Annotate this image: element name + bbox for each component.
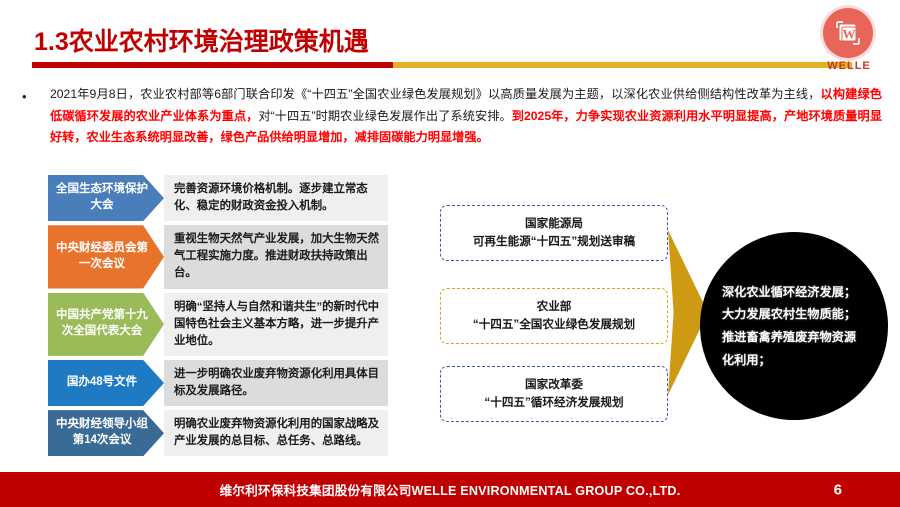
slide-canvas: 1.3农业农村环境治理政策机遇 W WELLE • 2021年9月8日，农业农村… [0, 0, 900, 507]
outcome-circle: 深化农业循环经济发展； 大力发展农村生物质能； 推进畜禽养殖废弃物资源 化利用； [700, 232, 888, 420]
policy-doc-issuer: 国家能源局 [447, 215, 661, 233]
logo-wordmark: WELLE [816, 60, 882, 72]
policy-doc-box: 农业部 “十四五”全国农业绿色发展规划 [440, 288, 668, 344]
flow-tag-chevron: 中国共产党第十九次全国代表大会 [48, 293, 164, 356]
policy-doc-title: 可再生能源“十四五”规划送审稿 [447, 233, 661, 251]
policy-doc-issuer: 国家改革委 [447, 376, 661, 394]
svg-text:W: W [843, 27, 856, 42]
flow-tag-chevron: 中央财经委员会第一次会议 [48, 225, 164, 288]
flow-tag-chevron: 国办48号文件 [48, 360, 164, 406]
flow-row: 中国共产党第十九次全国代表大会 明确“坚持人与自然和谐共生”的新时代中国特色社会… [48, 293, 388, 356]
policy-flow-list: 全国生态环境保护大会 完善资源环境价格机制。逐步建立常态化、稳定的财政资金投入机… [48, 175, 388, 460]
flow-description: 进一步明确农业废弃物资源化利用具体目标及发展路径。 [164, 360, 388, 406]
footer-bar: 维尔利环保科技集团股份有限公司WELLE ENVIRONMENTAL GROUP… [0, 472, 900, 507]
flow-description: 明确农业废弃物资源化利用的国家战略及产业发展的总目标、总任务、总路线。 [164, 410, 388, 456]
policy-doc-box: 国家改革委 “十四五”循环经济发展规划 [440, 366, 668, 422]
divider-segment-red [32, 62, 393, 68]
policy-doc-box: 国家能源局 可再生能源“十四五”规划送审稿 [440, 205, 668, 261]
flow-tag-chevron: 中央财经领导小组第14次会议 [48, 410, 164, 456]
outcome-line: 大力发展农村生物质能； [722, 303, 856, 326]
bullet-icon: • [22, 90, 27, 103]
intro-segment: 对“十四五”时期农业绿色发展作出了系统安排。 [258, 109, 511, 123]
flow-description: 完善资源环境价格机制。逐步建立常态化、稳定的财政资金投入机制。 [164, 175, 388, 221]
outcome-line: 推进畜禽养殖废弃物资源 [722, 326, 856, 349]
flow-row: 中央财经领导小组第14次会议 明确农业废弃物资源化利用的国家战略及产业发展的总目… [48, 410, 388, 456]
flow-row: 国办48号文件 进一步明确农业废弃物资源化利用具体目标及发展路径。 [48, 360, 388, 406]
outcome-line: 深化农业循环经济发展； [722, 281, 856, 304]
flow-description: 重视生物天然气产业发展，加大生物天然气工程实施力度。推进财政扶持政策出台。 [164, 225, 388, 288]
flow-tag-chevron: 全国生态环境保护大会 [48, 175, 164, 221]
flow-description: 明确“坚持人与自然和谐共生”的新时代中国特色社会主义基本方略，进一步提升产业地位… [164, 293, 388, 356]
page-title: 1.3农业农村环境治理政策机遇 [34, 22, 369, 58]
intro-segment: 2021年9月8日，农业农村部等6部门联合印发《“十四五”全国农业绿色发展规划》… [50, 87, 821, 101]
flow-row: 全国生态环境保护大会 完善资源环境价格机制。逐步建立常态化、稳定的财政资金投入机… [48, 175, 388, 221]
flow-row: 中央财经委员会第一次会议 重视生物天然气产业发展，加大生物天然气工程实施力度。推… [48, 225, 388, 288]
policy-doc-title: “十四五”全国农业绿色发展规划 [447, 316, 661, 334]
policy-doc-title: “十四五”循环经济发展规划 [447, 394, 661, 412]
outcome-line: 化利用； [722, 349, 856, 372]
page-number: 6 [834, 481, 842, 498]
intro-paragraph-text: 2021年9月8日，农业农村部等6部门联合印发《“十四五”全国农业绿色发展规划》… [50, 84, 882, 149]
outcome-text-block: 深化农业循环经济发展； 大力发展农村生物质能； 推进畜禽养殖废弃物资源 化利用； [722, 281, 856, 371]
footer-company-name: 维尔利环保科技集团股份有限公司WELLE ENVIRONMENTAL GROUP… [220, 480, 681, 499]
divider-segment-gold [393, 62, 852, 68]
welle-logo: W WELLE [816, 8, 882, 80]
title-divider-rule [32, 62, 852, 68]
intro-paragraph-block: • 2021年9月8日，农业农村部等6部门联合印发《“十四五”全国农业绿色发展规… [22, 84, 882, 149]
policy-doc-issuer: 农业部 [447, 298, 661, 316]
welle-w-icon: W [835, 20, 861, 46]
